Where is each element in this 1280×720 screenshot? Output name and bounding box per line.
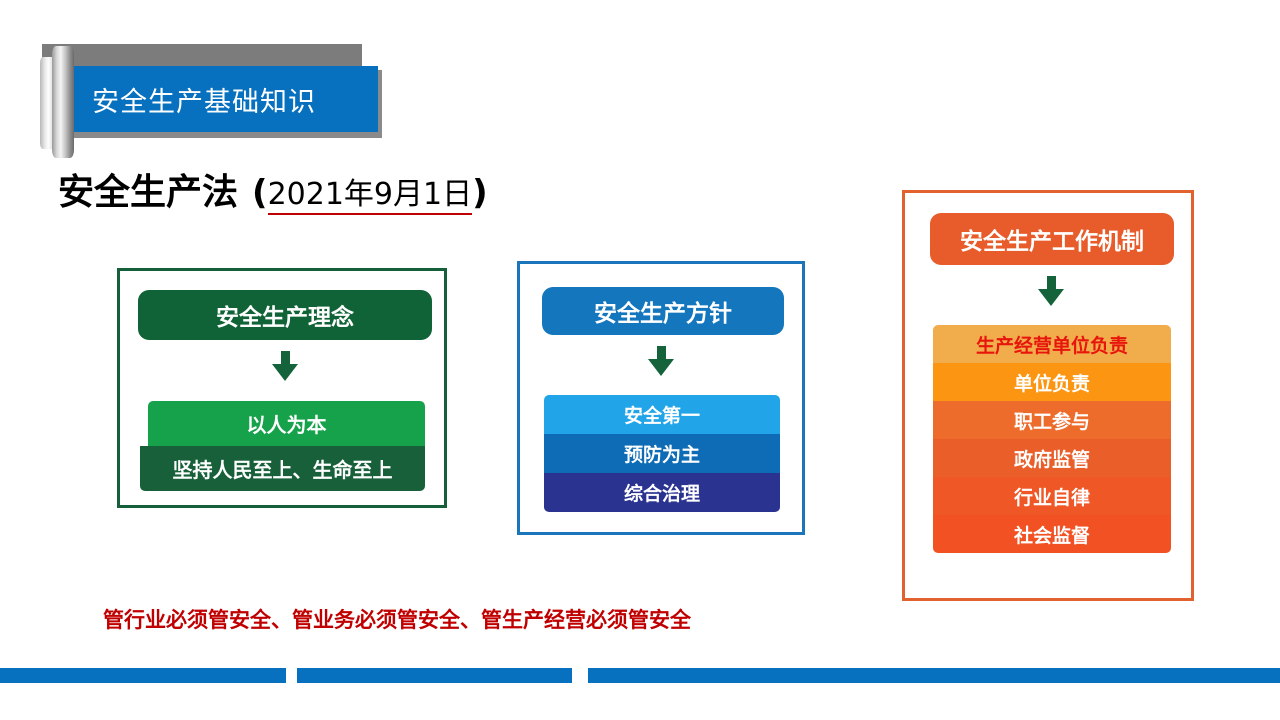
- policy-band-1: 安全第一: [544, 395, 780, 434]
- banner-title-text: 安全生产基础知识: [92, 80, 316, 119]
- footer-bar-2: [297, 668, 572, 683]
- panel-concept-header: 安全生产理念: [138, 290, 432, 340]
- concept-band-2: 坚持人民至上、生命至上: [140, 446, 425, 491]
- title-effective-date: 2021年9月1日: [268, 169, 473, 215]
- panel-mechanism-header: 安全生产工作机制: [930, 213, 1174, 265]
- page-title-main: 安全生产法: [58, 163, 238, 215]
- footer-bar-1: [0, 668, 286, 683]
- mechanism-band-6: 社会监督: [933, 515, 1171, 553]
- mechanism-band-1: 生产经营单位负责: [933, 325, 1171, 363]
- panel-policy-header: 安全生产方针: [542, 287, 784, 335]
- page-title: 安全生产法 ( 2021年9月1日 ): [58, 163, 488, 215]
- panel-safety-concept: 安全生产理念 以人为本 坚持人民至上、生命至上: [117, 268, 447, 508]
- panel-safety-policy: 安全生产方针 安全第一 预防为主 综合治理: [517, 261, 805, 535]
- title-paren-open: (: [252, 173, 268, 213]
- down-arrow-icon: [1038, 276, 1064, 306]
- panel-work-mechanism: 安全生产工作机制 生产经营单位负责 单位负责 职工参与 政府监管 行业自律 社会…: [902, 190, 1194, 601]
- concept-band-1: 以人为本: [148, 401, 425, 446]
- banner-blue-plate: 安全生产基础知识: [66, 66, 378, 132]
- mechanism-band-2: 单位负责: [933, 363, 1171, 401]
- mechanism-band-5: 行业自律: [933, 477, 1171, 515]
- policy-band-3: 综合治理: [544, 473, 780, 512]
- policy-band-2: 预防为主: [544, 434, 780, 473]
- slogan-text: 管行业必须管安全、管业务必须管安全、管生产经营必须管安全: [103, 604, 691, 634]
- title-paren-close: ): [472, 173, 488, 213]
- slide-canvas: 安全生产基础知识 安全生产法 ( 2021年9月1日 ) 安全生产理念 以人为本…: [0, 0, 1280, 720]
- title-banner: 安全生产基础知识: [28, 30, 378, 130]
- down-arrow-icon: [648, 346, 674, 376]
- down-arrow-icon: [272, 351, 298, 381]
- mechanism-band-3: 职工参与: [933, 401, 1171, 439]
- scroll-rod-inner-icon: [52, 46, 74, 158]
- footer-bar-3: [588, 668, 1280, 683]
- mechanism-band-4: 政府监管: [933, 439, 1171, 477]
